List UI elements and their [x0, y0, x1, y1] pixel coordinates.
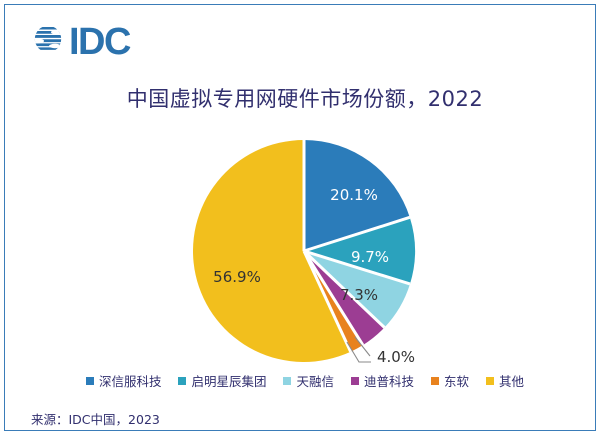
legend-item-dipu[interactable]: 迪普科技 — [351, 371, 414, 390]
legend-item-qita[interactable]: 其他 — [486, 371, 524, 390]
legend-item-dongruan[interactable]: 东软 — [431, 371, 469, 390]
legend-label-qimingxingchen: 启明星辰集团 — [191, 371, 266, 390]
pie-label-shenxinfu: 20.1% — [330, 186, 378, 204]
idc-logo: IDC — [31, 22, 130, 61]
legend-swatch-qita — [486, 377, 494, 385]
pie-chart: 20.1% 9.7% 7.3% 4.0% 2.0% 56.9% — [187, 137, 433, 365]
pie-label-qita: 56.9% — [213, 268, 261, 286]
pie-label-tianrongxin: 7.3% — [340, 286, 378, 304]
legend-label-dipu: 迪普科技 — [364, 371, 414, 390]
legend-swatch-dipu — [351, 377, 359, 385]
pie-label-qimingxingchen: 9.7% — [351, 248, 389, 266]
legend-item-shenxinfu[interactable]: 深信服科技 — [86, 371, 162, 390]
legend-swatch-shenxinfu — [86, 377, 94, 385]
legend-swatch-dongruan — [431, 377, 439, 385]
chart-page: IDC 中国虚拟专用网硬件市场份额，2022 — [0, 0, 600, 435]
chart-title: 中国虚拟专用网硬件市场份额，2022 — [5, 83, 600, 113]
legend-swatch-qimingxingchen — [178, 377, 186, 385]
pie-label-dipu: 4.0% — [377, 348, 415, 365]
legend-item-tianrongxin[interactable]: 天融信 — [283, 371, 334, 390]
logo-wordmark: IDC — [69, 23, 130, 61]
legend-label-tianrongxin: 天融信 — [296, 371, 334, 390]
legend-label-qita: 其他 — [499, 371, 524, 390]
legend-swatch-tianrongxin — [283, 377, 291, 385]
legend-label-shenxinfu: 深信服科技 — [99, 371, 162, 390]
chart-legend: 深信服科技 启明星辰集团 天融信 迪普科技 东软 其他 — [5, 371, 600, 390]
chart-frame: IDC 中国虚拟专用网硬件市场份额，2022 — [4, 4, 596, 431]
source-note: 来源：IDC中国，2023 — [31, 409, 160, 428]
legend-item-qimingxingchen[interactable]: 启明星辰集团 — [178, 371, 266, 390]
legend-label-dongruan: 东软 — [444, 371, 469, 390]
globe-icon — [31, 22, 65, 61]
